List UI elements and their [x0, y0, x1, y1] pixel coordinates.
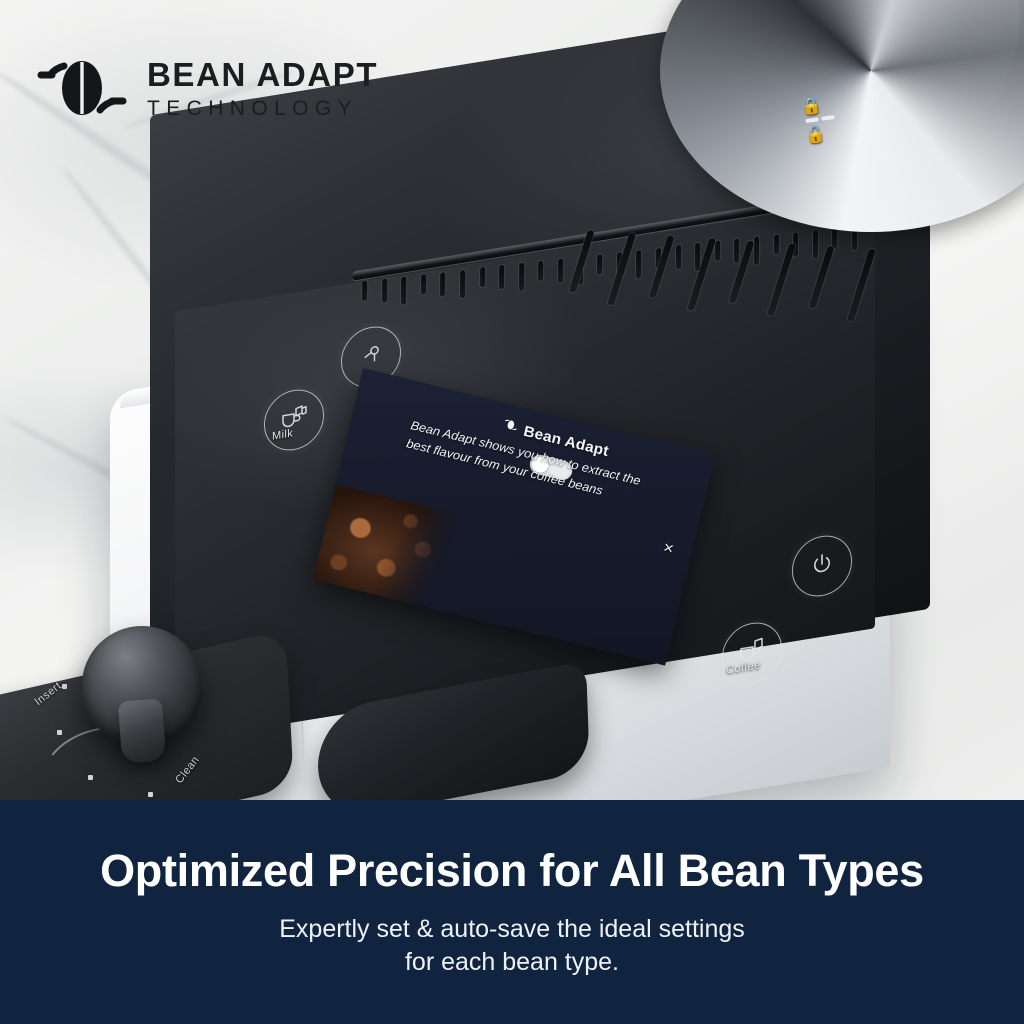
- vent-slot: [539, 261, 544, 282]
- banner-headline: Optimized Precision for All Bean Types: [100, 845, 924, 897]
- vent-slot: [754, 236, 759, 265]
- vent-slot: [767, 243, 796, 316]
- dial-tick: [148, 792, 153, 797]
- close-icon[interactable]: ×: [662, 539, 676, 558]
- vent-slot: [715, 241, 720, 262]
- coffee-bean: [991, 4, 1020, 44]
- promo-banner: Optimized Precision for All Bean Types E…: [0, 800, 1024, 1024]
- power-icon: [809, 548, 835, 583]
- hopper-lock-markings: 🔒 🔓: [801, 92, 872, 180]
- vent-slot: [729, 240, 755, 303]
- vent-slot: [607, 232, 636, 305]
- vent-slot: [852, 225, 857, 250]
- brand-logo: BEAN ADAPT TECHNOLOGY: [34, 52, 378, 124]
- vent-slot: [597, 254, 602, 275]
- dial-tick: [62, 684, 67, 689]
- brand-logo-text: BEAN ADAPT TECHNOLOGY: [147, 58, 378, 119]
- dial-tick: [57, 730, 62, 735]
- vent-slot: [441, 272, 446, 297]
- banner-subline-2: for each bean type.: [405, 948, 619, 976]
- vent-slot: [480, 267, 485, 288]
- screenshot-stage: 🔒 🔓 Milk: [0, 0, 1024, 1024]
- vent-slot: [362, 280, 367, 301]
- banner-subline: Expertly set & auto-save the ideal setti…: [279, 913, 745, 979]
- vent-slot: [382, 278, 387, 303]
- vent-slot: [421, 274, 426, 295]
- unlock-icon: 🔓: [805, 121, 867, 145]
- vent-slot: [774, 234, 779, 255]
- vent-slot: [734, 238, 739, 263]
- brand-name-line2: TECHNOLOGY: [147, 98, 378, 119]
- vent-slot: [558, 258, 563, 283]
- vent-slot: [636, 249, 641, 278]
- vent-slot: [401, 276, 406, 305]
- vent-slot: [832, 227, 837, 248]
- coffee-bean: [887, 0, 923, 24]
- vent-slot: [687, 238, 716, 311]
- brand-name-line1: BEAN ADAPT: [147, 58, 378, 91]
- vent-slot: [847, 248, 876, 321]
- coffee-bean: [917, 0, 942, 21]
- vent-slot: [649, 235, 675, 298]
- vent-slot: [499, 265, 504, 290]
- vent-slot: [519, 263, 524, 292]
- vent-slot: [676, 245, 681, 270]
- coffee-bean-logo-icon: [34, 52, 130, 124]
- grinder-dial-handle[interactable]: [118, 699, 166, 764]
- vent-slot: [460, 269, 465, 298]
- dial-tick: [88, 775, 93, 780]
- bean-adapt-icon: [502, 417, 519, 437]
- banner-subline-1: Expertly set & auto-save the ideal setti…: [279, 915, 745, 943]
- vent-slot: [813, 230, 818, 259]
